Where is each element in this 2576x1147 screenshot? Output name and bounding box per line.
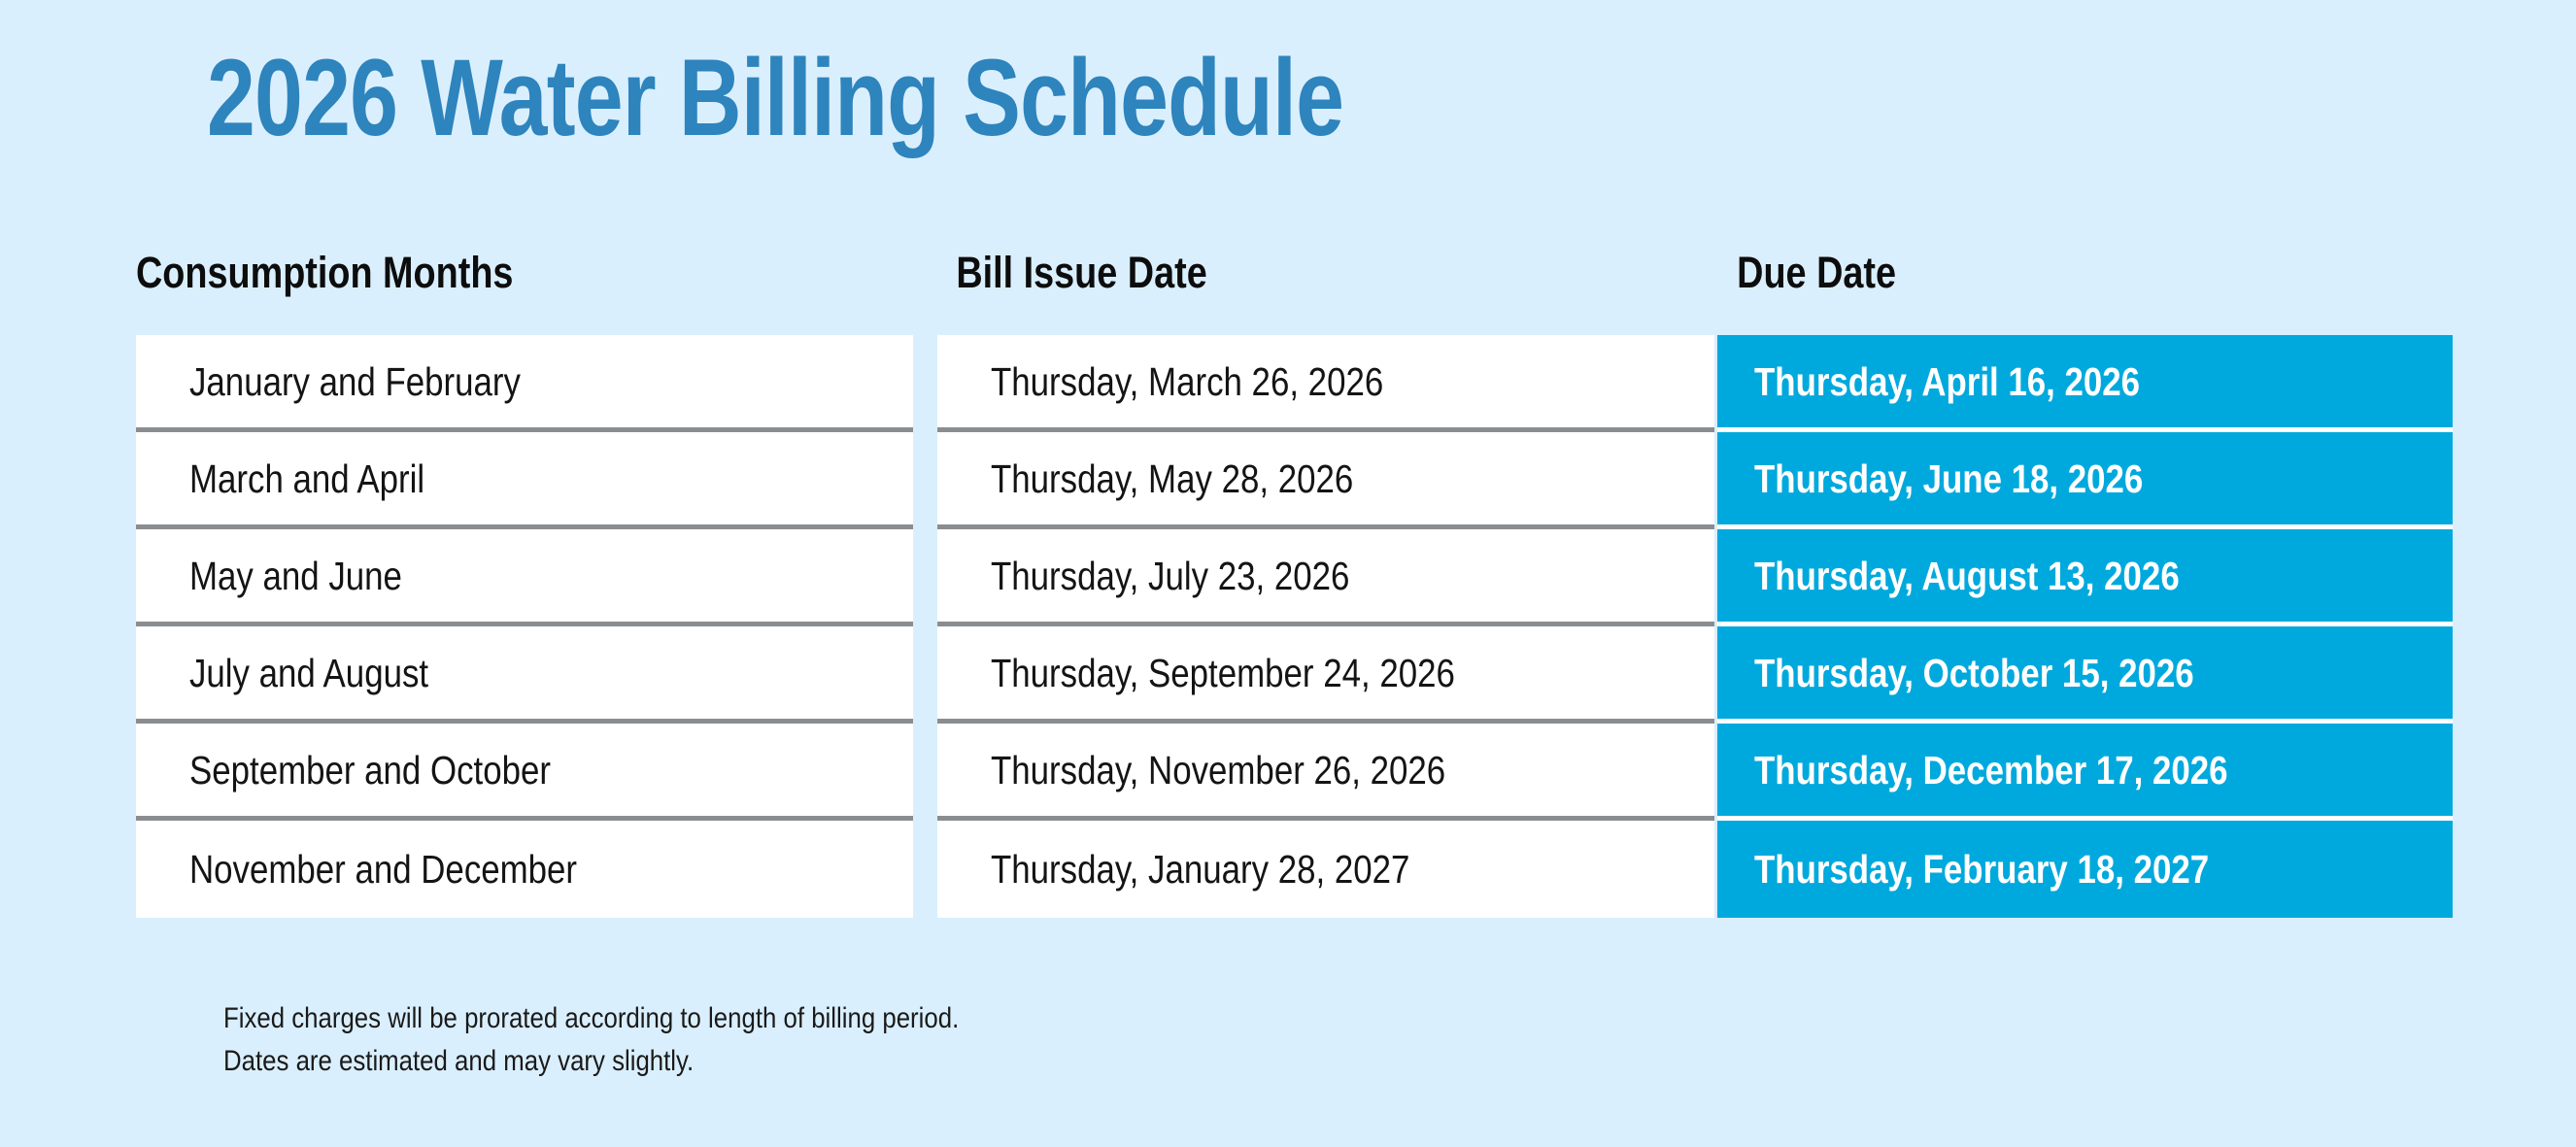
table-row: January and February Thursday, March 26,… (136, 335, 2457, 432)
cell-bill-issue-date-text: Thursday, November 26, 2026 (991, 748, 1445, 793)
cell-consumption-months: March and April (136, 432, 913, 529)
cell-bill-issue-date: Thursday, September 24, 2026 (937, 626, 1714, 724)
cell-bill-issue-date-text: Thursday, September 24, 2026 (991, 651, 1455, 695)
cell-due-date: Thursday, October 15, 2026 (1717, 626, 2453, 724)
cell-consumption-months-text: January and February (189, 359, 521, 404)
column-gap (913, 335, 937, 432)
cell-due-date: Thursday, June 18, 2026 (1717, 432, 2453, 529)
cell-consumption-months: July and August (136, 626, 913, 724)
cell-bill-issue-date-text: Thursday, May 28, 2026 (991, 456, 1353, 501)
cell-due-date-text: Thursday, August 13, 2026 (1754, 554, 2180, 598)
column-gap (913, 529, 937, 626)
table-row: September and October Thursday, November… (136, 724, 2457, 821)
footnotes: Fixed charges will be prorated according… (223, 997, 1079, 1083)
table-row: November and December Thursday, January … (136, 821, 2457, 918)
cell-consumption-months-text: November and December (189, 847, 577, 892)
cell-consumption-months: January and February (136, 335, 913, 432)
cell-consumption-months: November and December (136, 821, 913, 918)
column-header-due-date-label: Due Date (1717, 239, 2339, 298)
cell-due-date: Thursday, August 13, 2026 (1717, 529, 2453, 626)
table-header-row: Consumption Months Bill Issue Date Due D… (136, 239, 2457, 335)
cell-bill-issue-date-text: Thursday, March 26, 2026 (991, 359, 1383, 404)
column-gap (913, 626, 937, 724)
cell-due-date: Thursday, April 16, 2026 (1717, 335, 2453, 432)
cell-consumption-months-text: March and April (189, 456, 424, 501)
cell-due-date-text: Thursday, April 16, 2026 (1754, 359, 2140, 404)
cell-bill-issue-date-text: Thursday, January 28, 2027 (991, 847, 1409, 892)
cell-due-date-text: Thursday, October 15, 2026 (1754, 651, 2194, 695)
water-billing-schedule-poster: 2026 Water Billing Schedule Consumption … (0, 0, 2576, 1147)
cell-due-date-text: Thursday, February 18, 2027 (1754, 847, 2209, 892)
cell-due-date-text: Thursday, June 18, 2026 (1754, 456, 2143, 501)
billing-schedule-table: Consumption Months Bill Issue Date Due D… (136, 239, 2457, 918)
table-row: July and August Thursday, September 24, … (136, 626, 2457, 724)
column-header-due-date: Due Date (1717, 239, 2457, 298)
cell-bill-issue-date: Thursday, July 23, 2026 (937, 529, 1714, 626)
page-title: 2026 Water Billing Schedule (207, 41, 1343, 155)
cell-due-date: Thursday, December 17, 2026 (1717, 724, 2453, 821)
footnote-estimated: Dates are estimated and may vary slightl… (223, 1040, 959, 1083)
cell-bill-issue-date: Thursday, January 28, 2027 (937, 821, 1714, 918)
cell-bill-issue-date: Thursday, November 26, 2026 (937, 724, 1714, 821)
column-header-bill-issue-date-label: Bill Issue Date (937, 239, 1593, 298)
cell-bill-issue-date: Thursday, May 28, 2026 (937, 432, 1714, 529)
cell-consumption-months-text: July and August (189, 651, 428, 695)
column-gap (913, 432, 937, 529)
column-gap (913, 821, 937, 918)
cell-consumption-months: September and October (136, 724, 913, 821)
table-row: March and April Thursday, May 28, 2026 T… (136, 432, 2457, 529)
cell-due-date-text: Thursday, December 17, 2026 (1754, 748, 2228, 793)
cell-bill-issue-date: Thursday, March 26, 2026 (937, 335, 1714, 432)
table-row: May and June Thursday, July 23, 2026 Thu… (136, 529, 2457, 626)
column-header-consumption-months: Consumption Months (136, 239, 937, 298)
footnote-prorated: Fixed charges will be prorated according… (223, 997, 959, 1040)
cell-consumption-months: May and June (136, 529, 913, 626)
cell-bill-issue-date-text: Thursday, July 23, 2026 (991, 554, 1349, 598)
column-header-bill-issue-date: Bill Issue Date (937, 239, 1717, 298)
cell-due-date: Thursday, February 18, 2027 (1717, 821, 2453, 918)
cell-consumption-months-text: May and June (189, 554, 402, 598)
cell-consumption-months-text: September and October (189, 748, 551, 793)
column-header-consumption-months-label: Consumption Months (136, 239, 809, 298)
column-gap (913, 724, 937, 821)
